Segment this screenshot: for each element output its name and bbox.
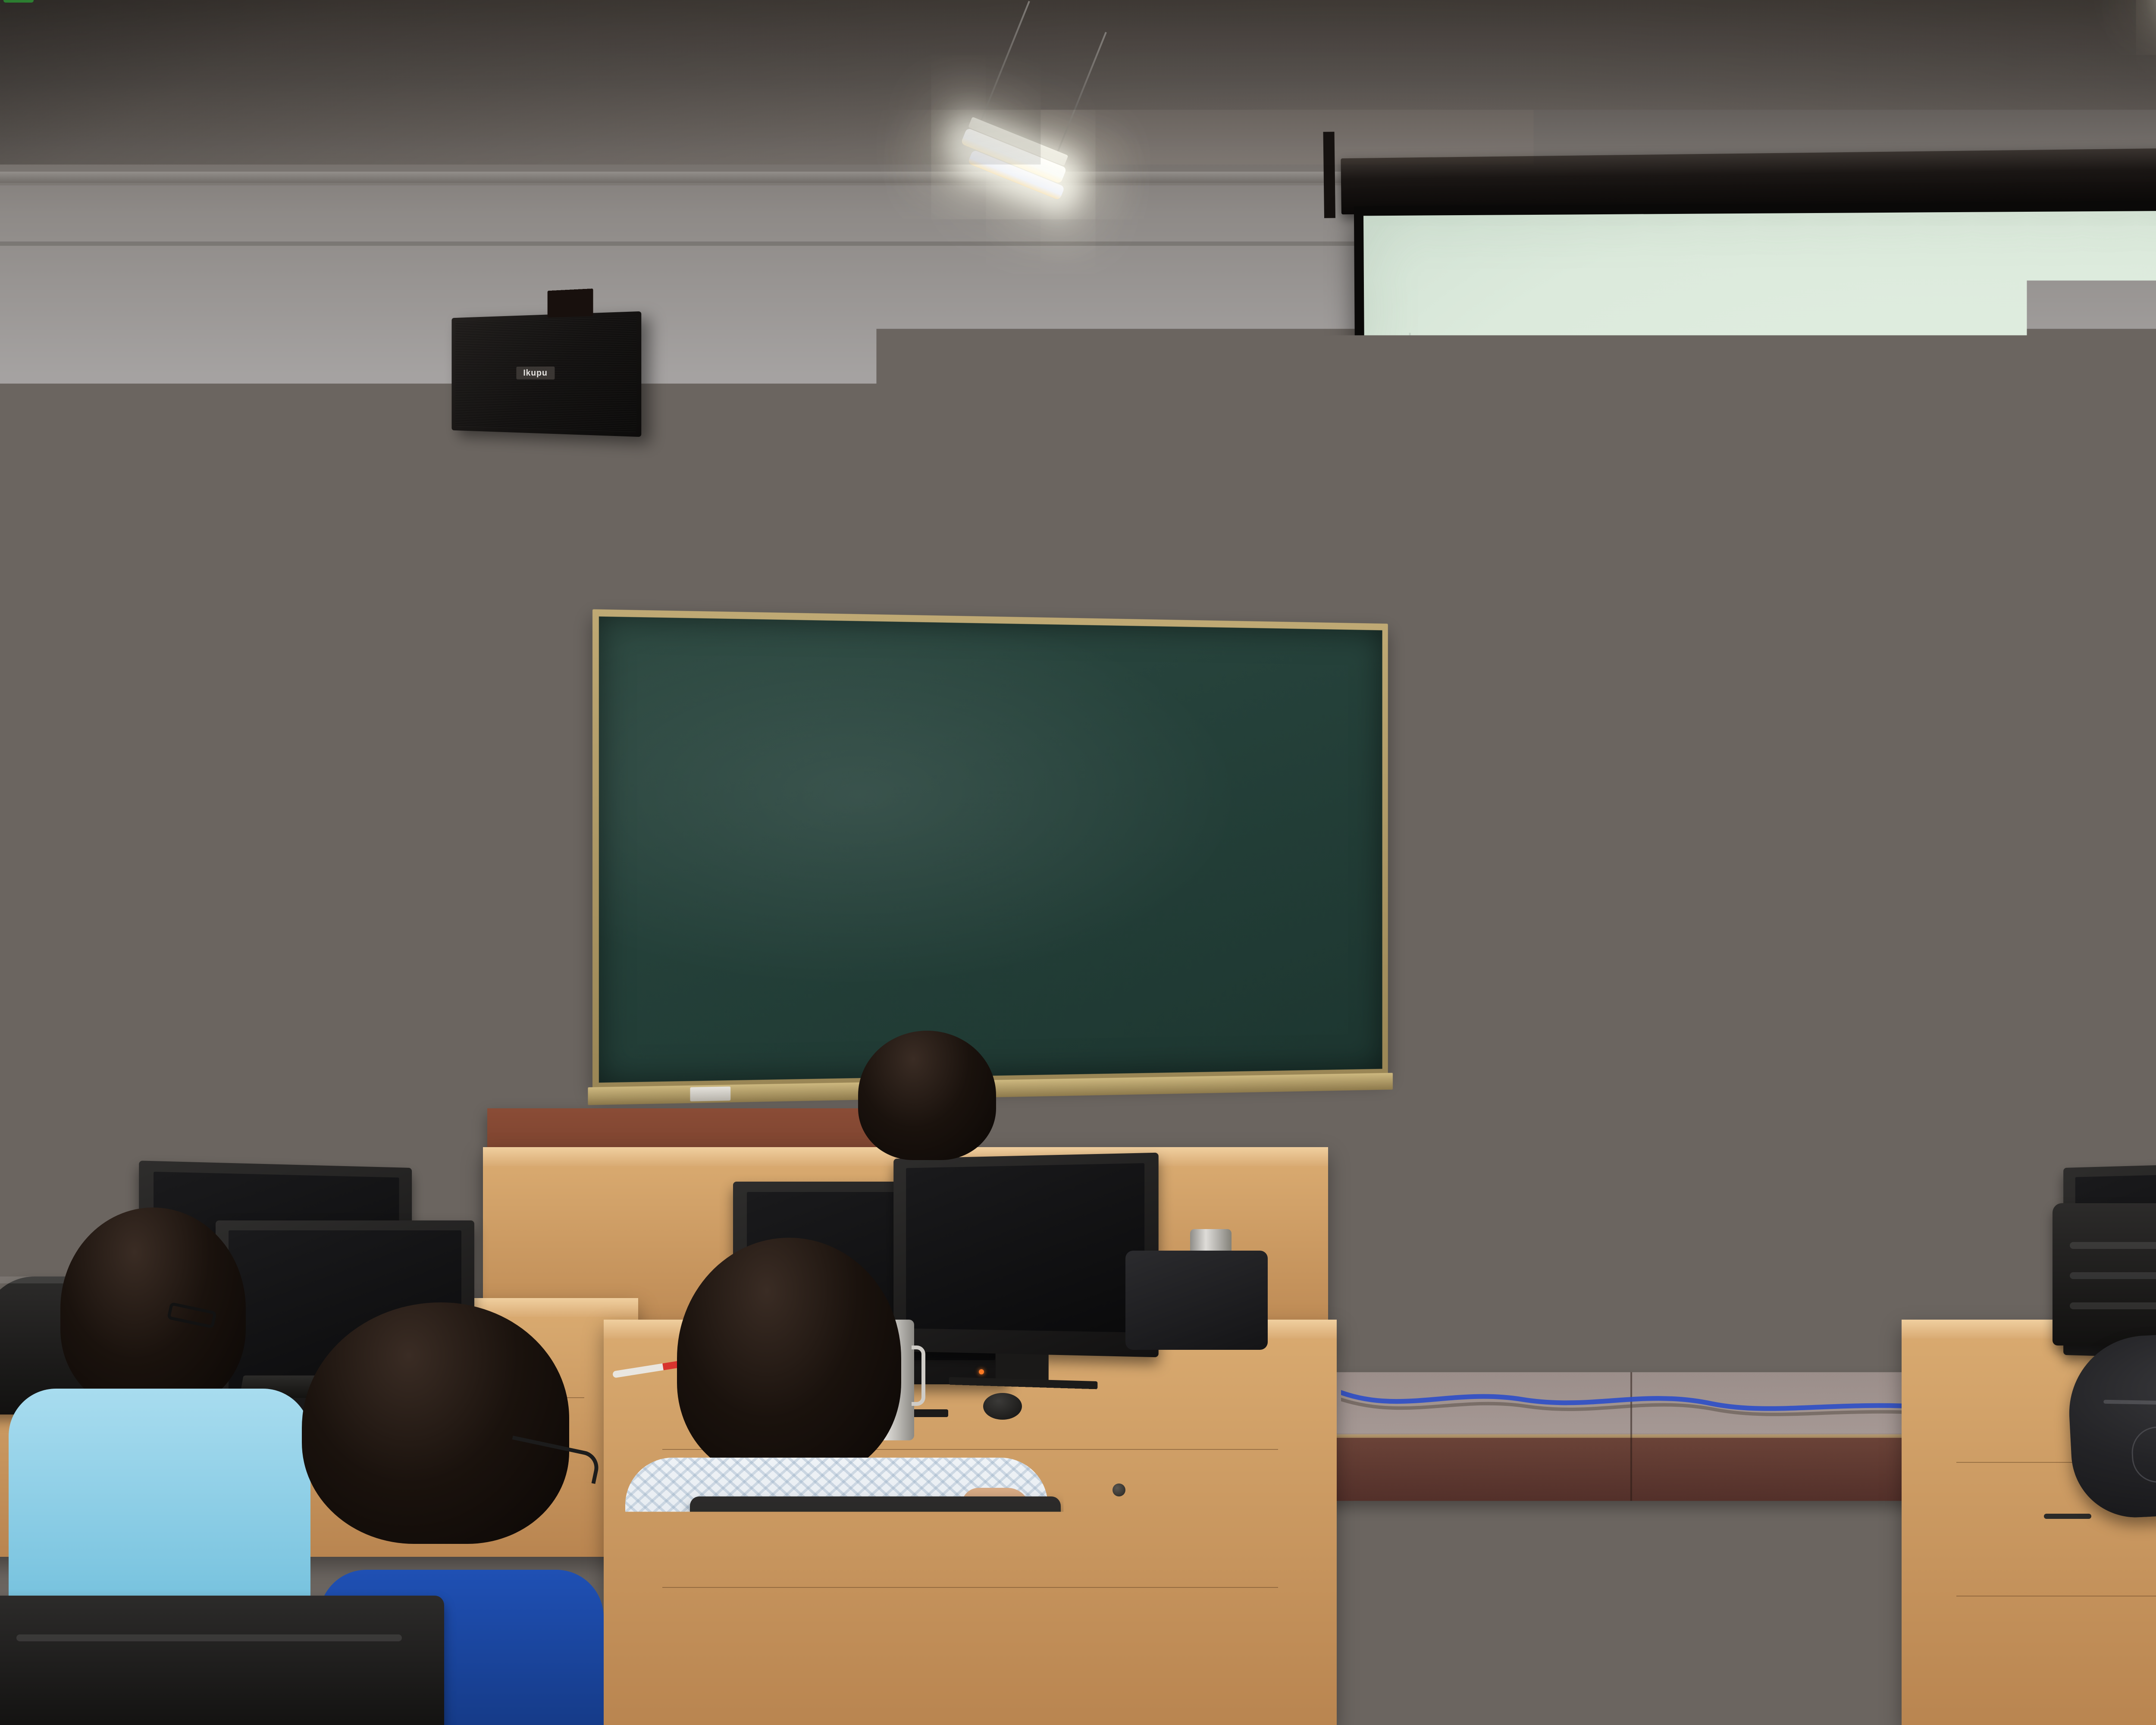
slide-subheading: 1、选题 — [1431, 555, 1505, 583]
topic-year: nwpu2015A — [1432, 943, 1575, 966]
laptop-bag — [1125, 1251, 1268, 1350]
screen-leg — [1999, 1069, 2002, 1134]
chair-slat — [723, 1695, 1027, 1702]
office-chair — [0, 1596, 444, 1725]
projection-screen-frame: 数模竞赛中的选题与论文写作 一、竞赛选题： 1、选题 早上八点下题，上午讨论题目… — [1354, 199, 2156, 1073]
cup-rim — [29, 1073, 68, 1082]
topic-name: 交巡警服务平台的设置与调度 — [1528, 708, 1780, 737]
green-chalkboard — [592, 609, 1388, 1090]
student-back-row-left — [858, 1031, 1005, 1173]
chalkboard-eraser-icon — [690, 1086, 730, 1101]
white-cup — [30, 1076, 66, 1141]
topic-year: 2011A — [1431, 685, 1528, 707]
bottle-cap — [3, 0, 34, 3]
student-head — [60, 1207, 246, 1410]
topic-row: 2013B 碎纸片的拼接复原 — [1432, 821, 2156, 855]
competition-topic-list: 2011A 城市表层土壤重金属污染分析 2011B 交巡警服务平台的设置与调度 … — [1431, 676, 2156, 1015]
topic-name: 车道被占用对城市道路通行能力的影响 — [1528, 794, 1858, 823]
glasses-lens — [345, 891, 380, 907]
lecturer-mouth — [369, 925, 406, 936]
topic-year: 2013A — [1432, 800, 1528, 822]
projection-screen-assembly: 数模竞赛中的选题与论文写作 一、竞赛选题： 1、选题 早上八点下题，上午讨论题目… — [1332, 138, 2156, 1143]
bottle-cap — [69, 1026, 93, 1037]
topic-name: 碎纸片的拼接复原 — [1529, 824, 1684, 852]
topic-name: 埃博拉病毒问题 — [1575, 967, 1711, 995]
speaker-bracket — [548, 289, 593, 317]
topic-year: 2014B — [1432, 887, 1529, 909]
office-chair — [690, 1496, 1061, 1725]
roller-end-cap — [1323, 132, 1335, 218]
topic-row: 2014B 创意平板折叠桌 — [1432, 878, 2156, 913]
desk-lock-icon — [1112, 1483, 1125, 1496]
wall-speaker: Ikupu — [451, 311, 641, 437]
glasses-bridge — [380, 898, 398, 900]
topic-row: 2011B 交巡警服务平台的设置与调度 — [1431, 705, 2156, 739]
topic-row: 2011A 城市表层土壤重金属污染分析 — [1431, 676, 2156, 710]
topic-name: 电阻率数据插值加密及成像问题 — [1575, 938, 1846, 966]
student-head — [302, 1302, 569, 1544]
speaker-brand-logo: Ikupu — [516, 367, 555, 379]
topic-name: 葡萄酒的评价问题 — [1528, 737, 1683, 765]
backpack-zipper — [2103, 1400, 2156, 1409]
topic-row-selected: 2012B 太阳能小屋的设计 — [1430, 766, 1706, 797]
topic-name: 创意平板折叠桌 — [1529, 882, 1664, 910]
projected-slide: 数模竞赛中的选题与论文写作 一、竞赛选题： 1、选题 早上八点下题，上午讨论题目… — [1363, 209, 2156, 1064]
topic-year: 2013B — [1432, 829, 1529, 851]
topic-name: 太阳能小屋的设计 — [1528, 766, 1683, 794]
desk-drawer-line — [1956, 1596, 2156, 1596]
slide-section-heading: 一、竞赛选题： — [1430, 482, 1633, 522]
student-back-row-right — [1811, 1013, 1949, 1143]
topic-row: nwpu2015A 电阻率数据插值加密及成像问题 — [1432, 935, 2156, 969]
student-head — [1811, 1013, 1940, 1134]
topic-year: nwpu2015B — [1433, 972, 1575, 994]
chair-slat — [2070, 1242, 2156, 1249]
drawer-handle[interactable] — [2044, 1514, 2091, 1519]
topic-row: 2013A 车道被占用对城市道路通行能力的影响 — [1432, 792, 2156, 826]
classroom-photo: Ikupu 数模竞赛中的选题与论文写作 一、 — [0, 0, 2156, 1725]
slide-paragraph: 弄懂题目背景，查找资料，并结合自己所擅长的领域。 — [1432, 618, 1908, 649]
chalkboard-surface — [599, 616, 1382, 1082]
slide-paragraph: 早上八点下题，上午讨论题目，从A、B题中选择一道。 — [1431, 588, 1915, 618]
screen-leg — [1658, 1069, 1661, 1134]
slide-title: 数模竞赛中的选题与论文写作 — [1364, 342, 2156, 401]
chair-slat — [723, 1639, 1027, 1646]
backpack-pocket — [2131, 1414, 2156, 1484]
topic-year: 2014A — [1432, 858, 1529, 880]
topic-row: nwpu2015B 埃博拉病毒问题 — [1433, 964, 2156, 998]
office-chair — [2053, 1203, 2156, 1345]
topic-name: 嫦娥三号软着陆轨道设计与控制策略 — [1529, 852, 1839, 881]
screen-leg — [1395, 1069, 1398, 1134]
topic-year: nwpu2015C — [1433, 1001, 1575, 1015]
wall-outlet — [552, 957, 578, 996]
platform-edge — [1328, 1434, 1945, 1438]
glasses-lens — [397, 891, 432, 907]
topic-row: 2014A 嫦娥三号软着陆轨道设计与控制策略 — [1432, 850, 2156, 884]
chair-slat — [2070, 1302, 2156, 1309]
topic-year: 2012B — [1432, 772, 1528, 793]
student-head — [858, 1031, 996, 1160]
screen-hanging-legs — [1357, 1069, 2156, 1143]
chair-slat — [16, 1634, 402, 1641]
chair-slat — [723, 1552, 1027, 1559]
topic-name: 城市表层土壤重金属污染分析 — [1528, 679, 1780, 708]
bottle-label — [66, 1058, 96, 1092]
blue-ethernet-cable — [1341, 1386, 1953, 1417]
chair-slat — [2070, 1272, 2156, 1279]
water-bottle — [65, 1035, 97, 1143]
topic-row-selected: 2012A 葡萄酒的评价问题 — [1429, 737, 1705, 768]
glasses-icon — [342, 891, 435, 908]
topic-name: (下一行被屏幕边缘截断) — [1575, 995, 1786, 1015]
topic-year: 2012A — [1431, 743, 1528, 765]
student-head — [677, 1238, 901, 1479]
topic-year: 2011B — [1431, 714, 1528, 736]
